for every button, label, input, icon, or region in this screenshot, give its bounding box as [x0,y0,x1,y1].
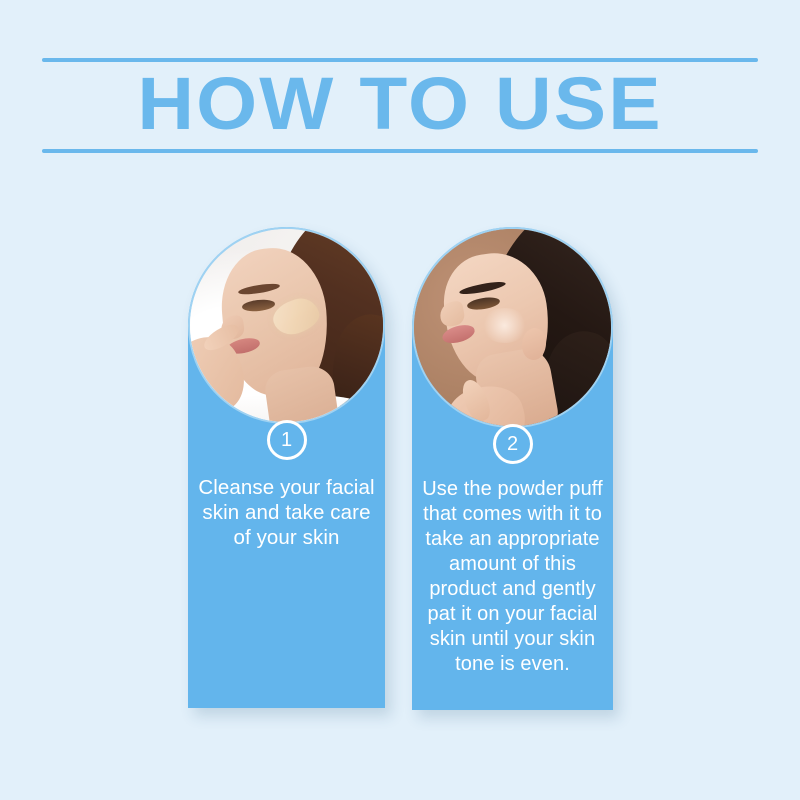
step-card-1[interactable]: 1 Cleanse your facial skin and take care… [188,227,385,708]
step-caption-1: Cleanse your facial skin and take care o… [196,475,377,550]
woman-touching-chin-photo [412,227,613,428]
step-number-badge-2: 2 [493,424,533,464]
page-title: HOW TO USE [0,61,800,147]
title-rule-bottom [42,149,758,153]
woman-applying-foundation-photo [188,227,385,424]
step-card-2[interactable]: 2 Use the powder puff that comes with it… [412,227,613,710]
how-to-use-poster: HOW TO USE 1 Cleanse your facial skin an… [0,0,800,800]
step-number-badge-1: 1 [267,420,307,460]
step-caption-2: Use the powder puff that comes with it t… [420,477,605,677]
